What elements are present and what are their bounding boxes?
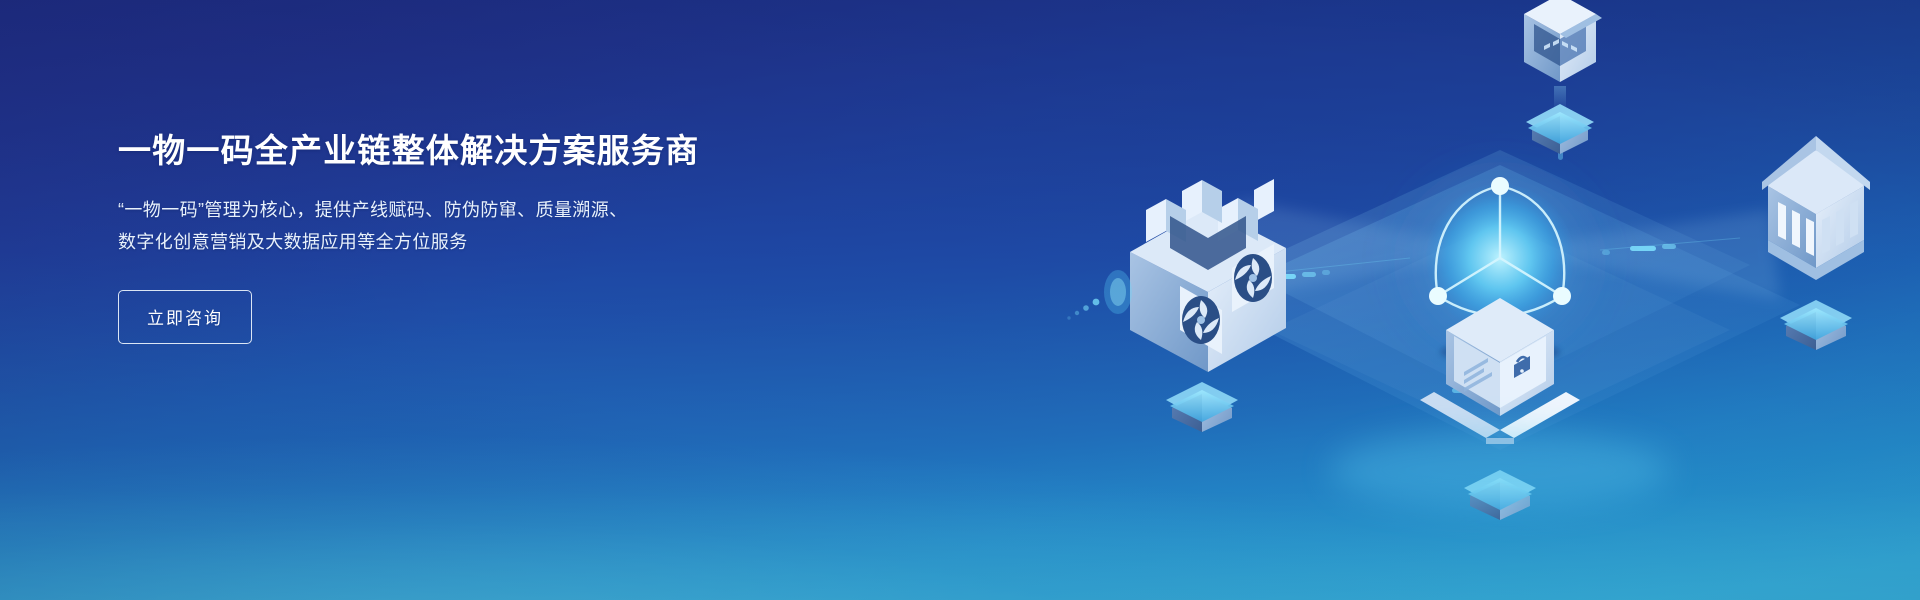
- subtitle-line-2: 数字化创意营销及大数据应用等全方位服务: [118, 226, 758, 258]
- subtitle-line-1: “一物一码”管理为核心，提供产线赋码、防伪防窜、质量溯源、: [118, 194, 758, 226]
- illustration-svg: [940, 0, 1920, 600]
- hero-subtitle: “一物一码”管理为核心，提供产线赋码、防伪防窜、质量溯源、 数字化创意营销及大数…: [118, 194, 758, 258]
- page-title: 一物一码全产业链整体解决方案服务商: [118, 130, 758, 171]
- bank-building-device: [1762, 136, 1870, 350]
- consult-now-button[interactable]: 立即咨询: [118, 290, 252, 344]
- hero-illustration: [940, 0, 1920, 600]
- scan-beam: [1067, 270, 1132, 320]
- pos-terminal-device: [1524, 0, 1602, 154]
- hero-banner: 一物一码全产业链整体解决方案服务商 “一物一码”管理为核心，提供产线赋码、防伪防…: [0, 0, 1920, 600]
- hero-copy-block: 一物一码全产业链整体解决方案服务商 “一物一码”管理为核心，提供产线赋码、防伪防…: [118, 130, 758, 344]
- ambient-glow: [1330, 430, 1670, 510]
- server-gpu-rack-device: [1067, 179, 1286, 432]
